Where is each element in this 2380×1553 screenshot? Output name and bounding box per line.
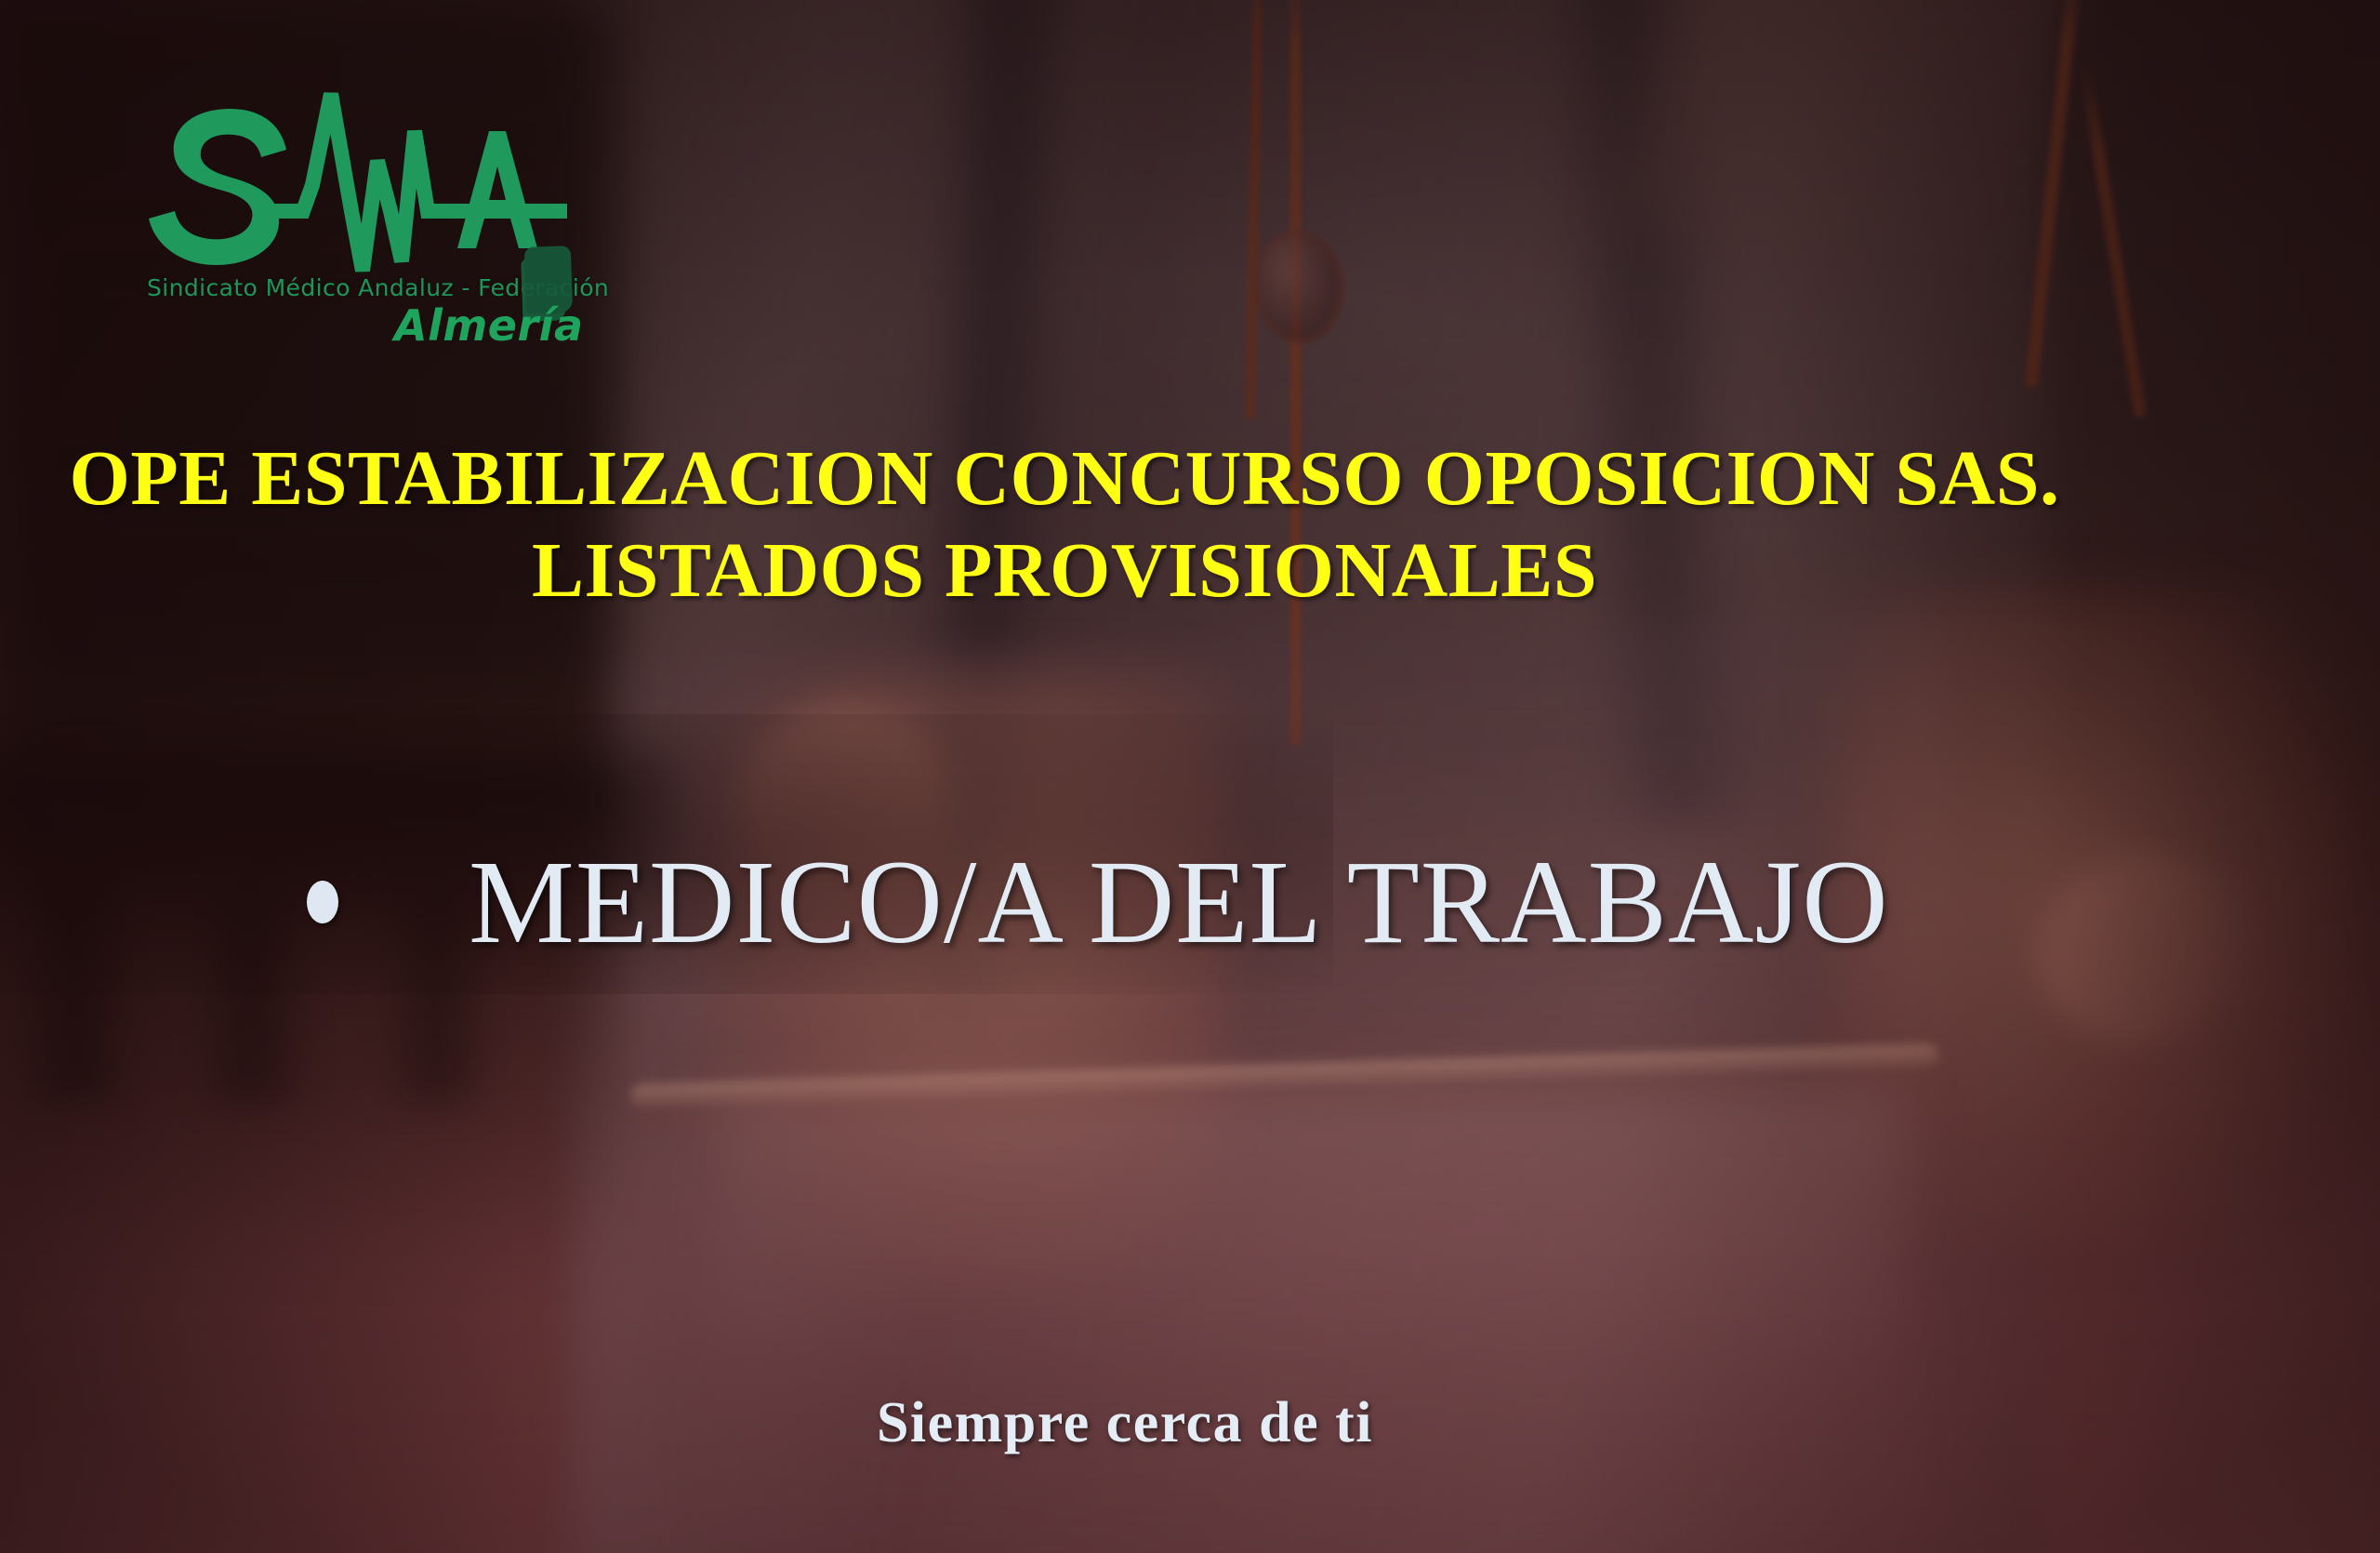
- bullet-point-icon: [307, 881, 338, 923]
- sma-logo[interactable]: Sindicato Médico Andaluz - Federación Al…: [130, 88, 614, 274]
- poster-canvas: Sindicato Médico Andaluz - Federación Al…: [0, 0, 2380, 1553]
- footer-tagline: Siempre cerca de ti: [0, 1390, 2250, 1456]
- page-title: OPE ESTABILIZACION CONCURSO OPOSICION SA…: [0, 432, 2129, 617]
- page-title-line1: OPE ESTABILIZACION CONCURSO OPOSICION SA…: [70, 435, 2060, 522]
- poster-content: Sindicato Médico Andaluz - Federación Al…: [0, 0, 2380, 1553]
- sma-logo-city: Almería: [394, 300, 584, 351]
- list-item-label: MEDICO/A DEL TRABAJO: [469, 837, 1889, 968]
- page-title-line2: LISTADOS PROVISIONALES: [0, 524, 2129, 617]
- sma-ekg-logo-icon: [130, 88, 567, 274]
- list-item: MEDICO/A DEL TRABAJO: [307, 837, 1889, 968]
